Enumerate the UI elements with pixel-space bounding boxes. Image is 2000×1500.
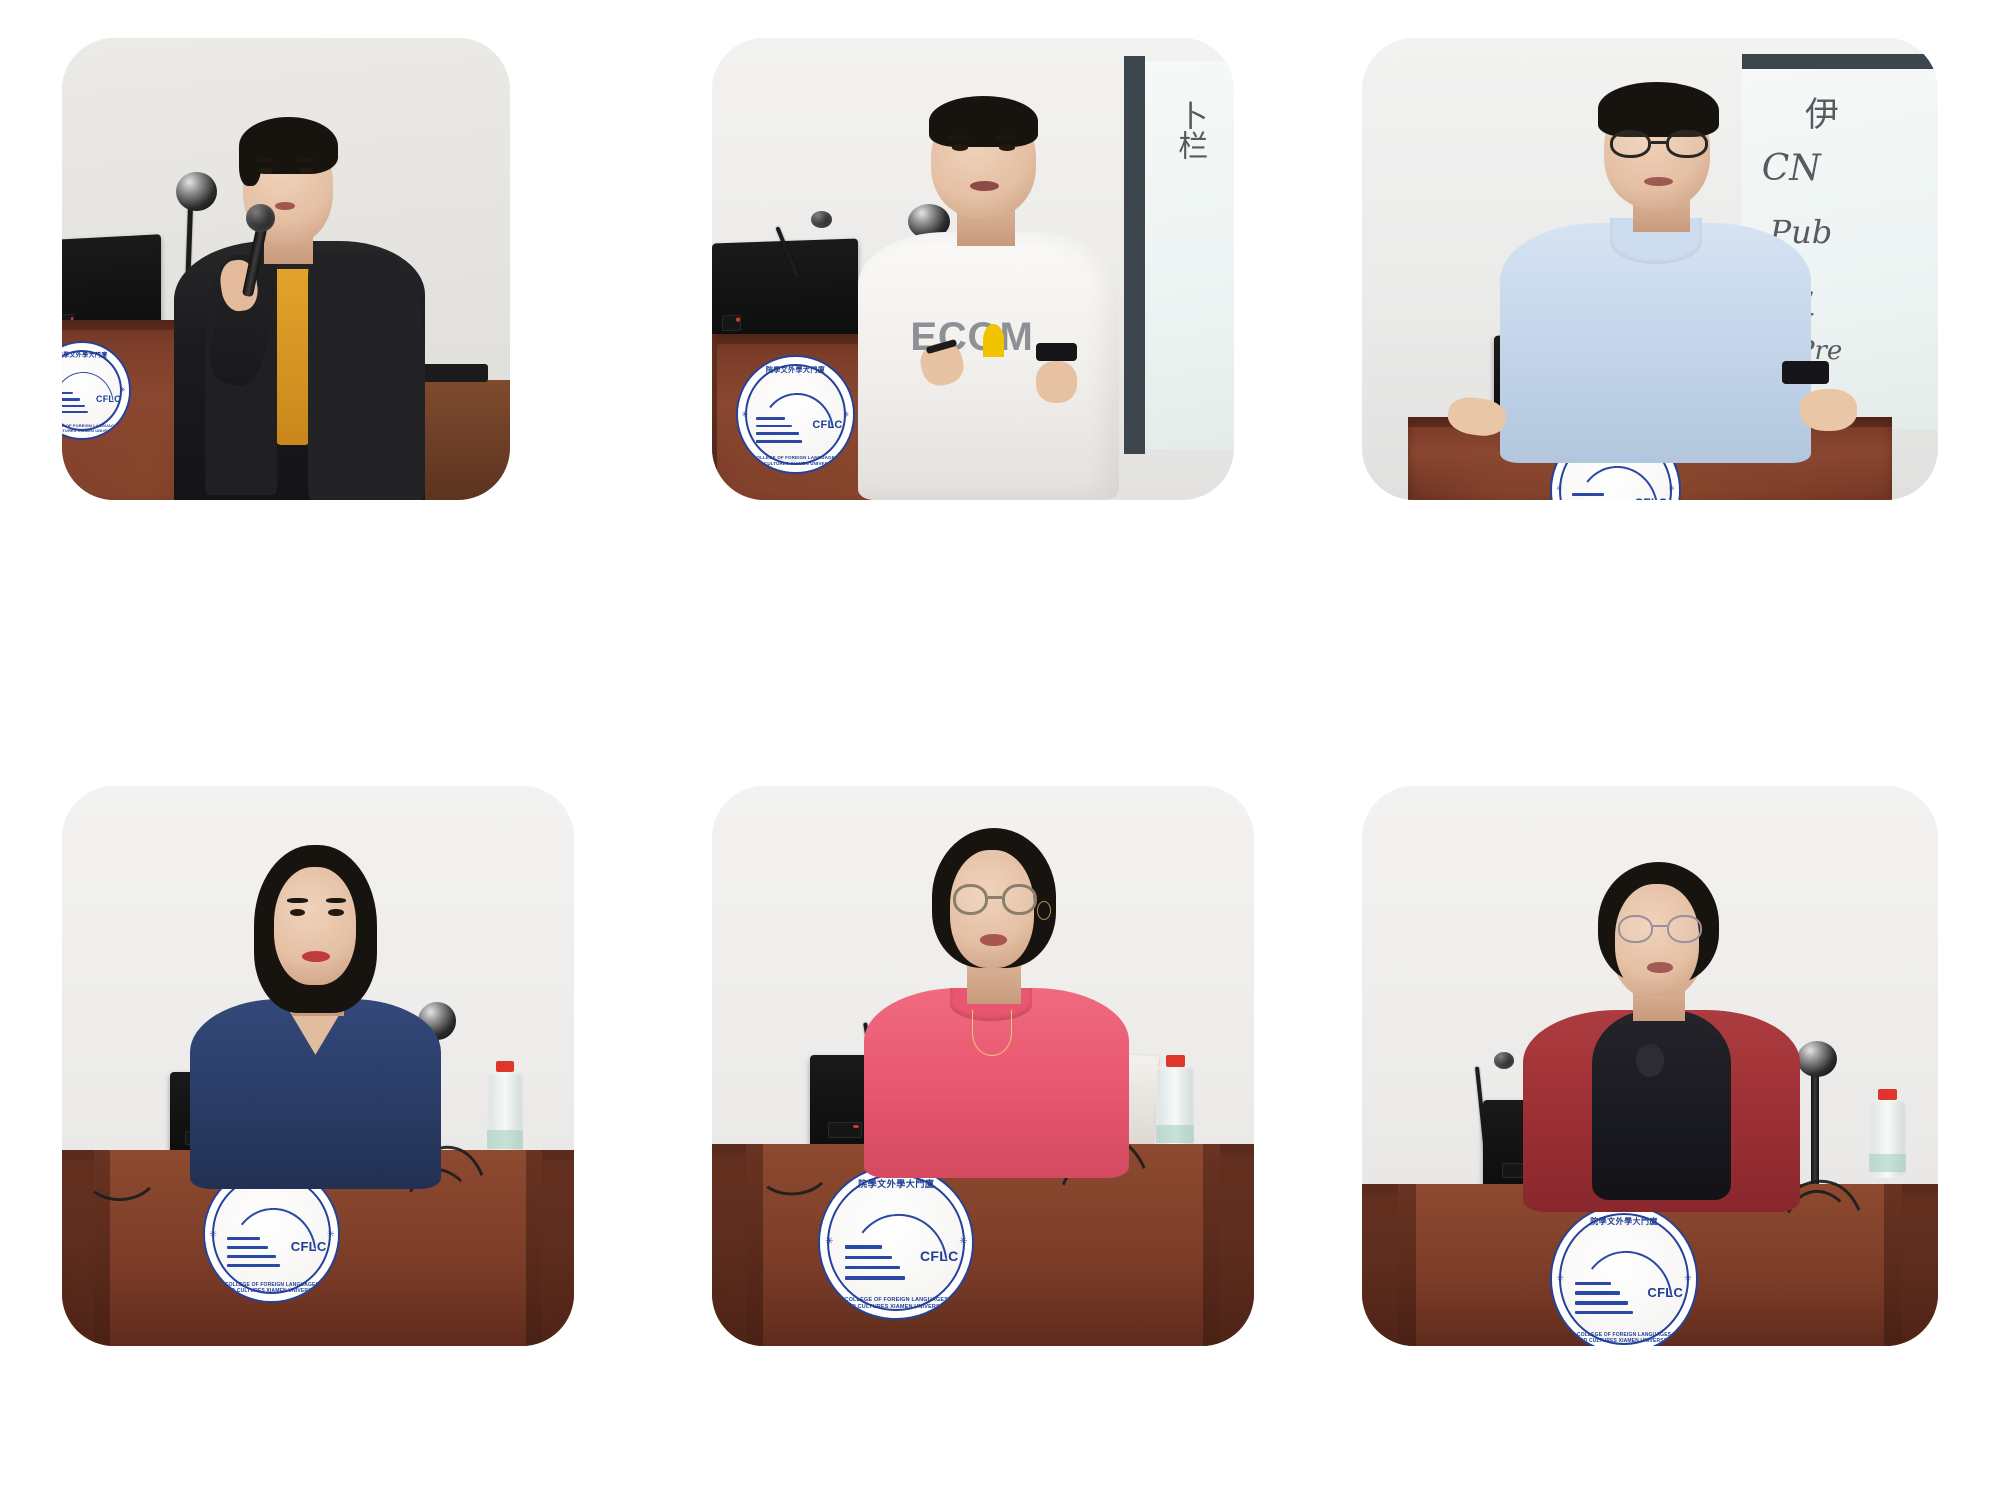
photo-bottom-left[interactable]: 院學文外學大門廈 CFLC COLLEGE OF FOREIGN LANGUAG…	[62, 786, 574, 1346]
photo-top-center[interactable]: 卜栏 院學文外學大門廈 CFLC COLLEGE OF FOREIGN LANG…	[712, 38, 1234, 500]
photo-top-left[interactable]: 院學文外學大門廈 CFLC COLLEGE OF FOREIGN LANGUAG…	[62, 38, 510, 500]
speaker-sweatshirt	[858, 232, 1119, 500]
speaker-shirt-print-accent-icon	[983, 324, 1004, 356]
speaker-person: ECOM	[712, 38, 1234, 500]
speaker-glasses	[1618, 915, 1702, 943]
speaker-brow-right	[995, 135, 1017, 140]
speaker-brow-right	[326, 898, 346, 903]
glasses-lens-right	[1667, 915, 1702, 943]
speaker-mouth	[1644, 177, 1673, 186]
speaker-brow-right	[297, 158, 315, 163]
speaker-hand-left	[1446, 395, 1508, 440]
speaker-brow-left	[256, 158, 274, 163]
speaker-brow-left	[287, 898, 307, 903]
speaker-person	[62, 786, 574, 1346]
glasses-bridge	[1651, 141, 1667, 144]
glasses-lens-left	[1610, 130, 1651, 158]
speaker-person	[62, 38, 510, 500]
speaker-jacket-zip-right	[308, 251, 424, 500]
speaker-hair	[929, 96, 1039, 147]
speaker-hand-right	[1036, 361, 1078, 403]
speaker-mouth	[1647, 962, 1673, 973]
speaker-person	[1362, 38, 1938, 500]
photo-collage: 院學文外學大門廈 CFLC COLLEGE OF FOREIGN LANGUAG…	[0, 0, 2000, 1500]
photo-top-right[interactable]: 伊 CN Pub 皮 Pre 院學文外學大門廈 CFLC COLLEGE OF …	[1362, 38, 1938, 500]
glasses-bridge	[1653, 925, 1666, 927]
speaker-hand-right	[1800, 389, 1858, 431]
speaker-eye-left	[952, 144, 968, 150]
speaker-hair-side	[239, 140, 261, 186]
speaker-earring	[1037, 901, 1051, 920]
speaker-scarf	[1592, 1010, 1730, 1200]
speaker-brow-left	[948, 135, 970, 140]
speaker-mouth	[980, 934, 1007, 945]
photo-bottom-center[interactable]: 院學文外學大門廈 CFLC COLLEGE OF FOREIGN LANGUAG…	[712, 786, 1254, 1346]
speaker-person	[1362, 786, 1938, 1346]
glasses-lens-right	[1002, 884, 1037, 915]
speaker-wristband	[1036, 343, 1078, 361]
speaker-wristband	[1782, 361, 1828, 384]
speaker-hair	[1598, 82, 1719, 137]
speaker-glasses	[953, 884, 1037, 915]
glasses-bridge	[988, 896, 1001, 899]
speaker-eye-right	[999, 144, 1015, 150]
handheld-microphone-head	[246, 204, 275, 232]
speaker-necklace	[972, 1010, 1012, 1056]
speaker-person	[712, 786, 1254, 1346]
speaker-face	[274, 867, 356, 985]
photo-bottom-right[interactable]: 院學文外學大門廈 CFLC COLLEGE OF FOREIGN LANGUAG…	[1362, 786, 1938, 1346]
glasses-lens-left	[1618, 915, 1653, 943]
glasses-lens-right	[1666, 130, 1707, 158]
speaker-glasses	[1610, 130, 1708, 158]
glasses-lens-left	[953, 884, 988, 915]
